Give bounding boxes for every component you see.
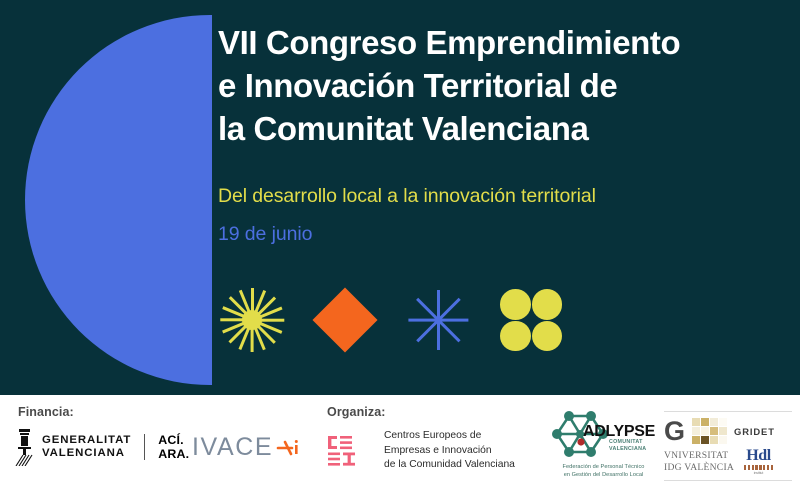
poster-root: VII Congreso Emprendimiento e Innovación… xyxy=(0,0,800,500)
sunburst-icon xyxy=(220,288,284,352)
footer-section: Financia: Organiza: xyxy=(0,395,800,500)
adlypse-sub-line-2: VALENCIANA xyxy=(609,446,646,453)
page-subtitle: Del desarrollo local a la innovación ter… xyxy=(218,184,783,209)
hero-text-block: VII Congreso Emprendimiento e Innovación… xyxy=(218,22,783,246)
generalitat-emblem-icon xyxy=(14,428,35,466)
adlypse-tag-line-1: Federación de Personal Técnico xyxy=(551,463,656,471)
ceei-line-1: Centros Europeos de xyxy=(384,429,515,444)
generalitat-line-2: VALENCIANA xyxy=(42,447,131,460)
title-line-1: VII Congreso Emprendimiento xyxy=(218,22,783,65)
logo-divider xyxy=(144,434,145,460)
adlypse-tag-line-2: en Gestión del Desarrollo Local xyxy=(551,471,656,479)
divider-bottom xyxy=(664,480,792,481)
gridet-mosaic-icon xyxy=(692,418,727,444)
ivace-logo: IVACE xyxy=(192,433,301,462)
page-title: VII Congreso Emprendimiento e Innovación… xyxy=(218,22,783,151)
ceei-logo: Centros Europeos de Empresas e Innovació… xyxy=(327,429,515,473)
hdl-wordmark: Hdl xyxy=(744,448,773,464)
universitat-valencia-logo: VNIVERSITAT IDG VALÈNCIA xyxy=(664,450,734,473)
organiza-label: Organiza: xyxy=(327,405,386,419)
ivace-wordmark: IVACE xyxy=(192,433,273,462)
title-line-2: e Innovación Territorial de xyxy=(218,65,783,108)
financia-block: Financia: xyxy=(18,405,74,419)
four-circles-icon xyxy=(500,289,562,351)
diamond-icon xyxy=(314,289,376,351)
uv-line-2: IDG VALÈNCIA xyxy=(664,462,734,473)
adlypse-tagline: Federación de Personal Técnico en Gestió… xyxy=(551,463,656,479)
aci-line: ACÍ. xyxy=(158,433,189,447)
generalitat-valenciana-logo: GENERALITAT VALENCIANA ACÍ. ARA. xyxy=(14,428,189,466)
hero-section: VII Congreso Emprendimiento e Innovación… xyxy=(0,0,800,395)
gridet-letter-g: G xyxy=(664,419,685,443)
gridet-logo: G GRIDET VNIVERSITAT IDG VALÈNCIA Hdl xyxy=(664,411,792,481)
gridet-wordmark: GRIDET xyxy=(734,426,775,437)
asterisk-icon xyxy=(406,288,470,352)
aci-ara-wordmark: ACÍ. ARA. xyxy=(158,433,189,462)
adlypse-logo: ADLYPSE COMUNITAT VALENCIANA Federación … xyxy=(551,407,656,479)
adlypse-sub-line-1: COMUNITAT xyxy=(609,439,646,446)
ceei-line-3: de la Comunidad Valenciana xyxy=(384,458,515,473)
hdl-caption: institut xyxy=(744,471,773,475)
generalitat-line-1: GENERALITAT xyxy=(42,434,131,447)
generalitat-wordmark: GENERALITAT VALENCIANA xyxy=(42,434,131,460)
event-date: 19 de junio xyxy=(218,223,783,246)
hdl-institute-logo: Hdl institut xyxy=(744,448,773,475)
gridet-mark-row: G GRIDET xyxy=(664,412,792,448)
ceei-mark-icon xyxy=(327,435,375,467)
hdl-bars-icon xyxy=(744,465,773,470)
adlypse-subtitle: COMUNITAT VALENCIANA xyxy=(609,439,646,452)
organiza-block: Organiza: xyxy=(327,405,386,419)
financia-label: Financia: xyxy=(18,405,74,419)
uv-line-1: VNIVERSITAT xyxy=(664,450,734,461)
title-line-3: la Comunitat Valenciana xyxy=(218,108,783,151)
decorative-shape-row xyxy=(220,288,562,352)
ceei-line-2: Empresas e Innovación xyxy=(384,444,515,459)
ivace-plus-i-icon xyxy=(275,435,301,461)
ceei-description: Centros Europeos de Empresas e Innovació… xyxy=(384,429,515,473)
ara-line: ARA. xyxy=(158,447,189,461)
universitat-valencia-row: VNIVERSITAT IDG VALÈNCIA Hdl institut xyxy=(664,448,792,480)
